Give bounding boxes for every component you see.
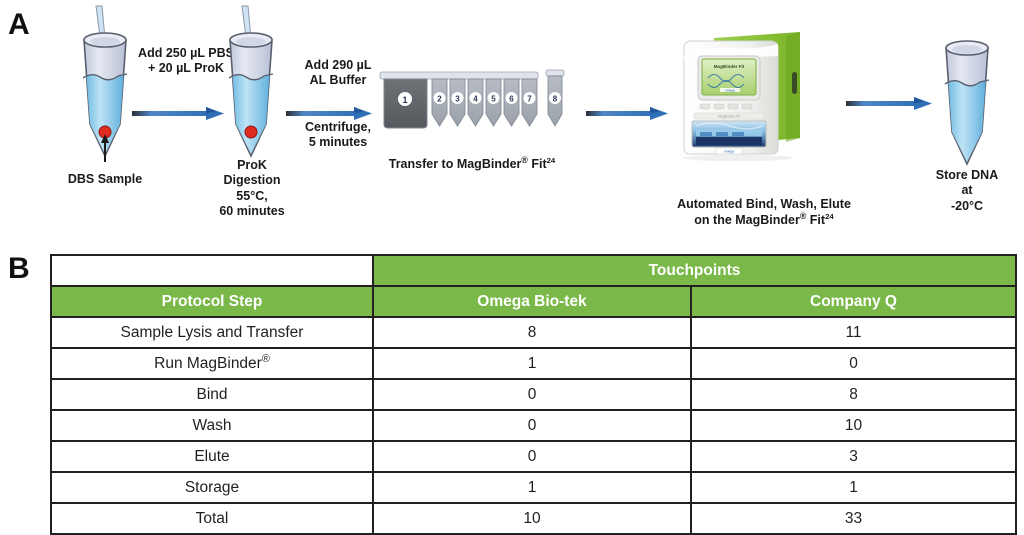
panel-b-label: B <box>8 252 30 286</box>
panel-a-label: A <box>8 8 30 42</box>
panel-b-table: B Touchpoints Protocol Step Omega Bio-te… <box>0 244 1024 532</box>
table-header-omega-biotek: Omega Bio-tek <box>373 286 691 317</box>
magbinder-rack: 1 2 3 4 5 6 7 <box>378 68 570 145</box>
panel-a-workflow: A <box>0 0 1024 240</box>
cell-omega: 1 <box>373 472 691 503</box>
cell-step: Sample Lysis and Transfer <box>51 317 373 348</box>
cell-companyq: 10 <box>691 410 1016 441</box>
table-row: Sample Lysis and Transfer 8 11 <box>51 317 1016 348</box>
rack-well-3-label: 3 <box>455 95 460 104</box>
cell-omega: 8 <box>373 317 691 348</box>
magbinder-fit24-instrument: MagBinder Fit omega MagBinder Fit <box>672 26 824 179</box>
instrument-drawer-label: MagBinder Fit <box>718 115 740 119</box>
rack-well-2-label: 2 <box>437 95 442 104</box>
rack-well-4-label: 4 <box>473 95 478 104</box>
table-header-protocol-step: Protocol Step <box>51 286 373 317</box>
table-row: Wash 0 10 <box>51 410 1016 441</box>
instrument-front-badge: omega <box>724 150 734 154</box>
transition-add-al-buffer-label: Add 290 µL AL Buffer <box>288 58 388 89</box>
caption-dbs-sample: DBS Sample <box>38 172 172 187</box>
tube-store-dna <box>924 22 1010 172</box>
table-header-row-span: Touchpoints <box>51 255 1016 286</box>
table-header-touchpoints: Touchpoints <box>373 255 1016 286</box>
table-header-company-q: Company Q <box>691 286 1016 317</box>
table-row: Storage 1 1 <box>51 472 1016 503</box>
caption-instrument: Automated Bind, Wash, Eluteon the MagBin… <box>644 182 884 228</box>
cell-omega: 0 <box>373 410 691 441</box>
arrow-3 <box>586 106 668 122</box>
caption-magbinder-rack: Transfer to MagBinder® Fit24 <box>372 142 572 173</box>
cell-omega: 1 <box>373 348 691 379</box>
cell-step: Total <box>51 503 373 534</box>
rack-well-1-label: 1 <box>402 95 407 105</box>
table-row-total: Total 10 33 <box>51 503 1016 534</box>
cell-omega: 10 <box>373 503 691 534</box>
cell-omega: 0 <box>373 441 691 472</box>
cell-companyq: 11 <box>691 317 1016 348</box>
cell-step: Storage <box>51 472 373 503</box>
cell-companyq: 1 <box>691 472 1016 503</box>
arrow-4 <box>846 96 932 112</box>
instrument-screen-title: MagBinder Fit <box>714 64 745 69</box>
tube-dbs-sample <box>62 4 148 164</box>
rack-well-8-label: 8 <box>553 95 558 104</box>
cell-step: Wash <box>51 410 373 441</box>
cell-companyq: 0 <box>691 348 1016 379</box>
table-row: Bind 0 8 <box>51 379 1016 410</box>
rack-well-7-label: 7 <box>527 95 532 104</box>
rack-well-6-label: 6 <box>509 95 514 104</box>
caption-store-dna: Store DNA at -20°C <box>908 168 1024 214</box>
cell-companyq: 8 <box>691 379 1016 410</box>
cell-step: Bind <box>51 379 373 410</box>
cell-omega: 0 <box>373 379 691 410</box>
touchpoints-table: Touchpoints Protocol Step Omega Bio-tek … <box>50 254 1017 535</box>
caption-prok-digestion: ProK Digestion 55°C, 60 minutes <box>188 158 316 219</box>
cell-step: Elute <box>51 441 373 472</box>
caption-instrument-text: Automated Bind, Wash, Eluteon the MagBin… <box>677 197 851 226</box>
cell-companyq: 33 <box>691 503 1016 534</box>
table-header-row-columns: Protocol Step Omega Bio-tek Company Q <box>51 286 1016 317</box>
cell-step: Run MagBinder® <box>51 348 373 379</box>
tube-prok-digestion <box>208 4 294 164</box>
instrument-screen-vendor: omega <box>725 88 735 92</box>
rack-well-5-label: 5 <box>491 95 496 104</box>
cell-companyq: 3 <box>691 441 1016 472</box>
table-corner-blank <box>51 255 373 286</box>
caption-magbinder-rack-text: Transfer to MagBinder® Fit24 <box>389 157 556 171</box>
table-row: Run MagBinder® 1 0 <box>51 348 1016 379</box>
table-row: Elute 0 3 <box>51 441 1016 472</box>
